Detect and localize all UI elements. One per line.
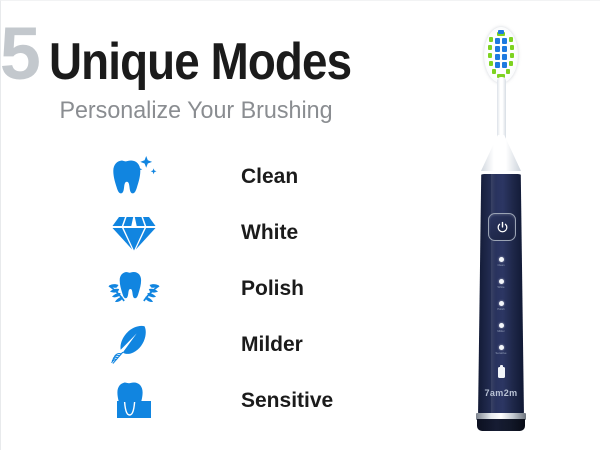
mode-row-milder: Milder	[1, 317, 401, 373]
led-dot	[499, 323, 504, 328]
power-button[interactable]	[488, 213, 516, 241]
mode-label-polish: Polish	[241, 277, 304, 301]
brush-neck	[497, 77, 506, 143]
mode-label-sensitive: Sensitive	[241, 389, 333, 413]
led-indicator-milder: Milder	[481, 323, 521, 345]
mode-label-milder: Milder	[241, 333, 303, 357]
battery-icon	[498, 367, 505, 378]
brand-logo: 7am2m	[466, 388, 536, 398]
mode-row-white: White	[1, 205, 401, 261]
brush-head	[484, 27, 518, 83]
feather-icon	[105, 320, 163, 370]
diamond-icon	[105, 208, 163, 258]
led-indicator-white: White	[481, 279, 521, 301]
mode-list: Clean White	[1, 149, 401, 429]
led-indicator-sensitive: Sensitive	[481, 345, 521, 367]
header: 5 Unique Modes Personalize Your Brushing	[1, 19, 391, 125]
led-indicator-clean: Clean	[481, 257, 521, 279]
title-row: 5 Unique Modes	[1, 19, 391, 89]
led-dot	[499, 257, 504, 262]
mode-count-number: 5	[0, 19, 39, 89]
tooth-laurel-icon	[105, 264, 163, 314]
mode-label-clean: Clean	[241, 165, 298, 189]
handle-base-cap	[477, 419, 525, 431]
mode-row-polish: Polish	[1, 261, 401, 317]
page-title: Unique Modes	[49, 36, 351, 88]
led-label-polish: Polish	[483, 308, 519, 311]
page-subtitle: Personalize Your Brushing	[7, 97, 385, 125]
led-dot	[499, 301, 504, 306]
mode-row-clean: Clean	[1, 149, 401, 205]
led-indicator-polish: Polish	[481, 301, 521, 323]
mode-row-sensitive: Sensitive	[1, 373, 401, 429]
mode-indicator-leds: Clean White Polish Milder Sensitive	[481, 257, 521, 367]
infographic-canvas: 5 Unique Modes Personalize Your Brushing…	[0, 0, 600, 450]
led-dot	[499, 279, 504, 284]
led-dot	[499, 345, 504, 350]
brush-neck-cone	[481, 135, 521, 171]
led-label-clean: Clean	[483, 264, 519, 267]
tooth-sparkle-icon	[105, 152, 163, 202]
power-icon	[496, 221, 509, 234]
led-label-sensitive: Sensitive	[483, 352, 519, 355]
led-label-white: White	[483, 286, 519, 289]
led-label-milder: Milder	[483, 330, 519, 333]
electric-toothbrush-image: Clean White Polish Milder Sensitive 7am2…	[431, 1, 571, 450]
bristles	[484, 27, 518, 83]
mode-label-white: White	[241, 221, 298, 245]
tooth-gum-icon	[105, 376, 163, 426]
